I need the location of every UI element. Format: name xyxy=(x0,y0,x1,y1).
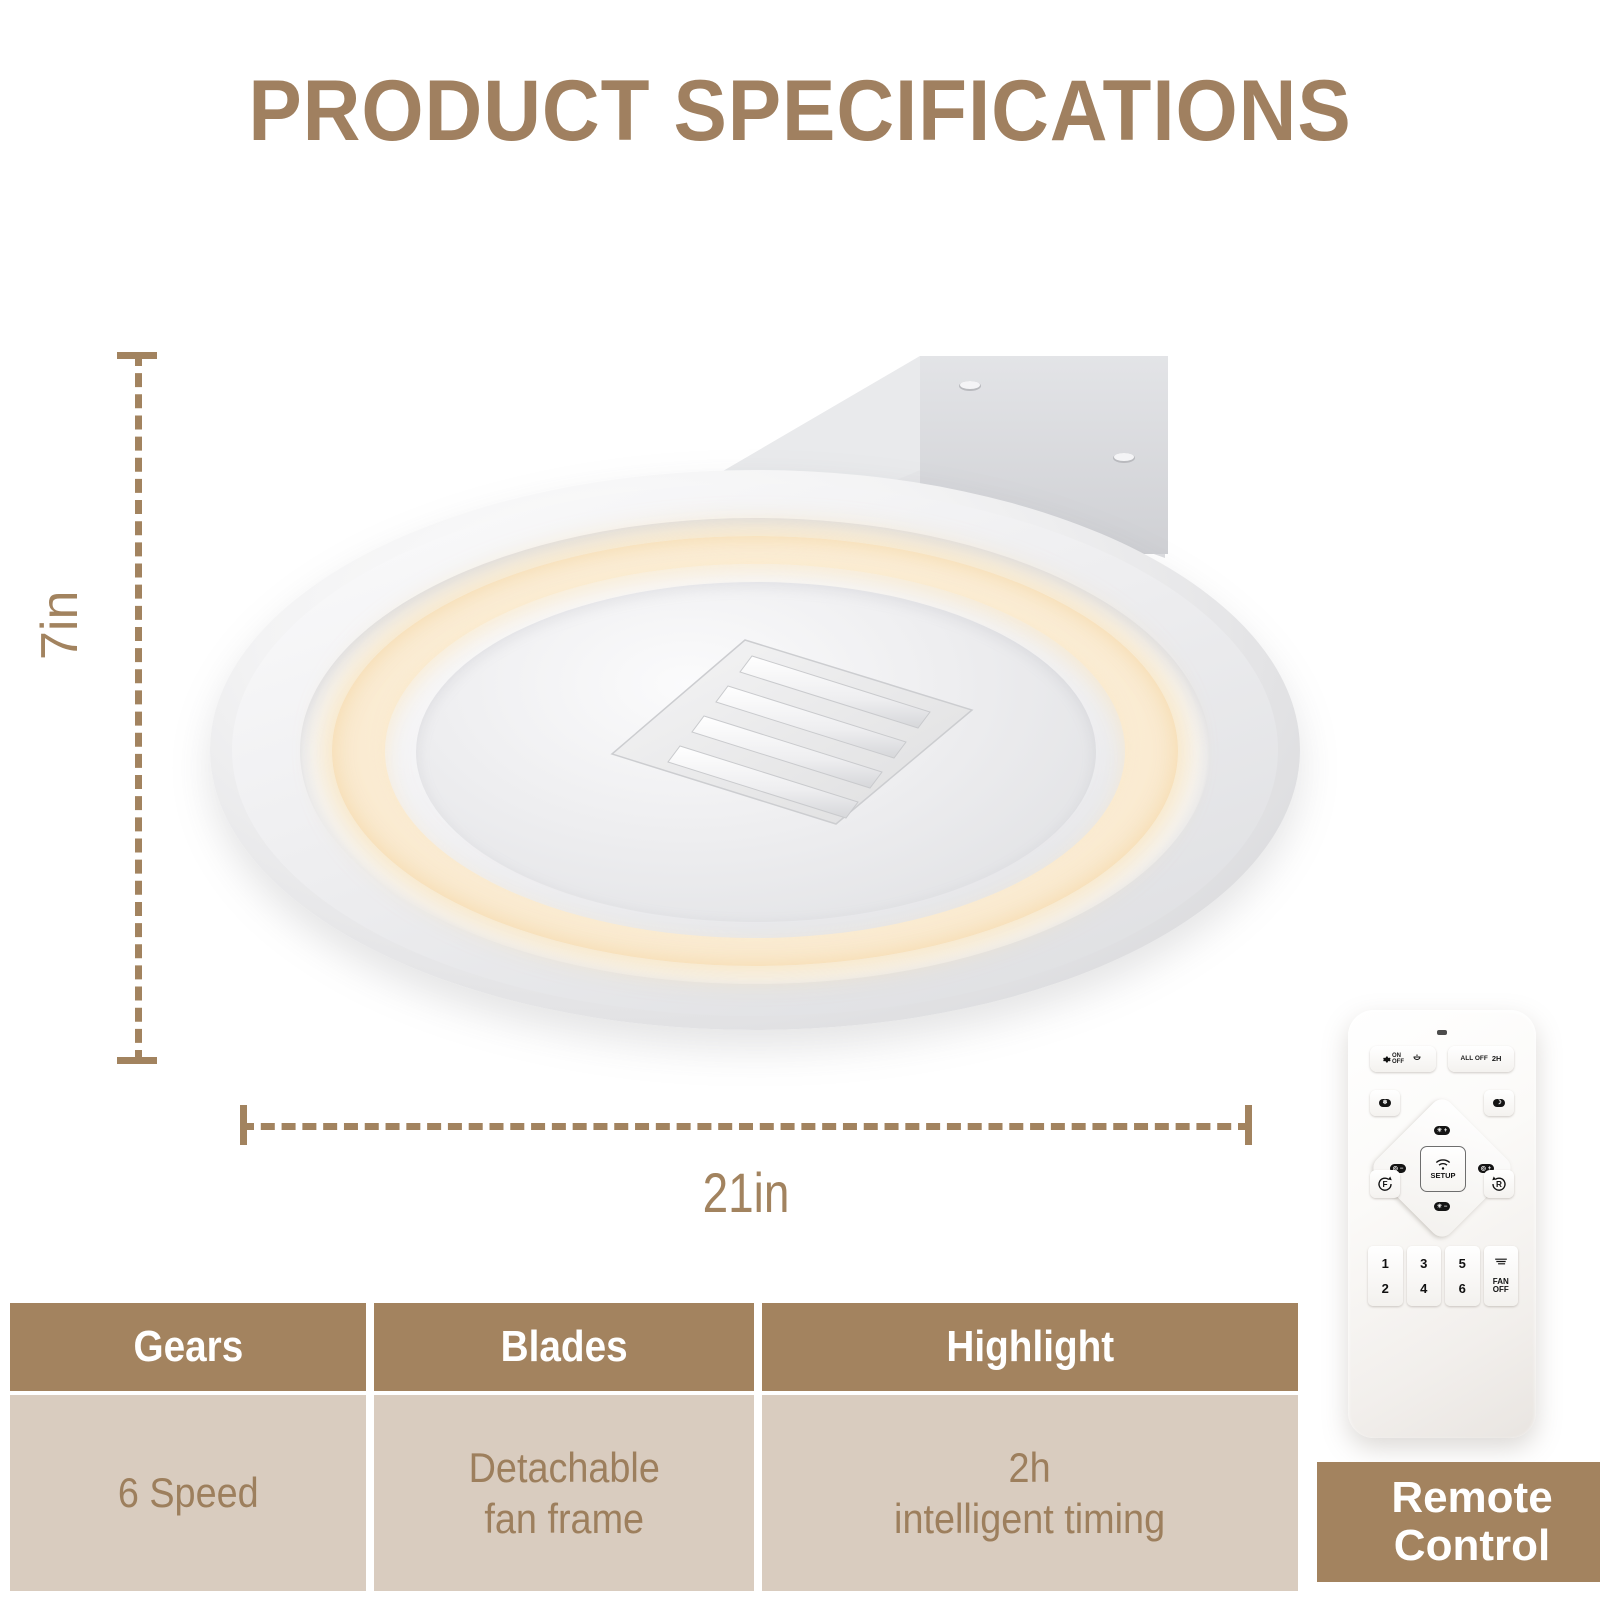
gear-icon xyxy=(1382,1055,1391,1064)
speed-key-5-6[interactable]: 5 6 xyxy=(1445,1246,1480,1306)
dimension-line-vertical xyxy=(135,352,142,1064)
spec-value-gears: 6 Speed xyxy=(10,1395,366,1591)
spec-value-blades: Detachable fan frame xyxy=(374,1395,754,1591)
remote-control-image: ON OFF ALL OFF 2H ❄ ☽ ☀ + ☀ − ◎ − ◎ + xyxy=(1348,1010,1536,1438)
fan-toggle-icon xyxy=(1410,1053,1424,1065)
brightness-up-icon: ☀ + xyxy=(1434,1126,1451,1135)
speed-key-3-4[interactable]: 3 4 xyxy=(1407,1246,1442,1306)
forward-button[interactable]: F xyxy=(1370,1170,1400,1198)
cool-light-icon: ❄ xyxy=(1379,1099,1390,1107)
night-light-button[interactable]: ☽ xyxy=(1484,1090,1514,1116)
dimension-cap-bottom xyxy=(117,1057,157,1064)
spec-table-header-row: Gears Blades Highlight xyxy=(10,1303,1298,1391)
airflow-icon xyxy=(1494,1257,1508,1266)
fan-off-key[interactable]: FAN OFF xyxy=(1484,1246,1519,1306)
rotate-forward-icon: F xyxy=(1376,1175,1394,1193)
dimension-cap-right xyxy=(1245,1105,1252,1145)
wifi-icon xyxy=(1435,1159,1451,1170)
all-off-2h-button[interactable]: ALL OFF 2H xyxy=(1448,1046,1514,1072)
brightness-down-button[interactable]: ☀ − xyxy=(1418,1198,1466,1214)
moon-icon: ☽ xyxy=(1493,1099,1504,1107)
height-dimension-label: 7in xyxy=(30,591,90,660)
remote-control-label: Remote Control xyxy=(1317,1462,1600,1582)
page-title: PRODUCT SPECIFICATIONS xyxy=(56,62,1544,161)
light-onoff-button[interactable]: ON OFF xyxy=(1370,1046,1436,1072)
setup-button[interactable]: SETUP xyxy=(1420,1146,1466,1192)
spec-header-highlight: Highlight xyxy=(762,1303,1298,1391)
spec-header-blades: Blades xyxy=(374,1303,754,1391)
fan-blade-assembly-icon xyxy=(600,632,980,832)
brightness-up-button[interactable]: ☀ + xyxy=(1418,1122,1466,1138)
spec-value-highlight: 2h intelligent timing xyxy=(762,1395,1298,1591)
speed-numpad: 1 2 3 4 5 6 FAN OFF xyxy=(1368,1246,1518,1306)
cool-light-button[interactable]: ❄ xyxy=(1370,1090,1400,1116)
svg-text:F: F xyxy=(1382,1180,1387,1189)
product-spec-page: PRODUCT SPECIFICATIONS 7in 21in xyxy=(0,0,1600,1600)
ceiling-fan-light-image xyxy=(180,330,1320,1050)
height-dimension-guide xyxy=(130,352,144,1064)
ir-emitter-icon xyxy=(1437,1030,1447,1035)
dimension-line-horizontal xyxy=(240,1123,1252,1130)
brightness-down-icon: ☀ − xyxy=(1434,1202,1451,1211)
spec-header-gears: Gears xyxy=(10,1303,366,1391)
svg-text:R: R xyxy=(1496,1180,1502,1189)
width-dimension-guide xyxy=(240,1118,1252,1132)
rotate-reverse-icon: R xyxy=(1490,1175,1508,1193)
width-dimension-label: 21in xyxy=(134,1160,1357,1225)
spec-table-body-row: 6 Speed Detachable fan frame 2h intellig… xyxy=(10,1395,1298,1591)
lamp-body xyxy=(180,460,1320,1050)
speed-key-1-2[interactable]: 1 2 xyxy=(1368,1246,1403,1306)
spec-table: Gears Blades Highlight 6 Speed Detachabl… xyxy=(10,1303,1298,1593)
reverse-button[interactable]: R xyxy=(1484,1170,1514,1198)
